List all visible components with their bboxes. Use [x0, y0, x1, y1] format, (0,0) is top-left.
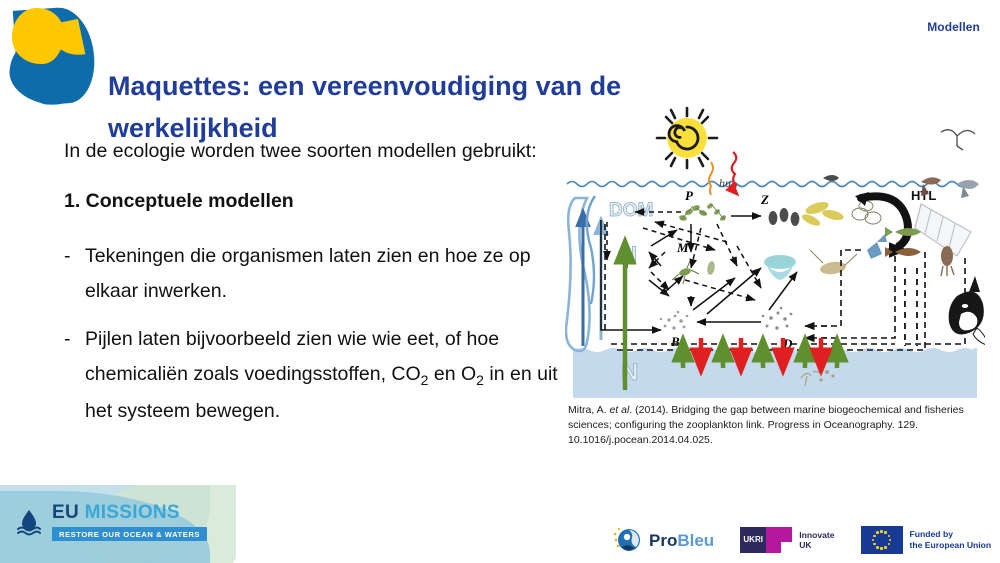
eu-funding-caption: Funded by the European Union [910, 529, 992, 550]
caption-italic: et al [609, 404, 629, 416]
innovate-uk-logo: UKRI Innovate UK [740, 527, 834, 553]
eu-missions-text: EU MISSIONS RESTORE OUR OCEAN & WATERS [52, 503, 207, 542]
list-item: - Tekeningen die organismen laten zien e… [64, 239, 562, 310]
ukri-pink-block [766, 527, 792, 553]
brand-logo [8, 2, 100, 110]
zooplankton-glyphs [764, 200, 887, 280]
intro-paragraph: In de ecologie worden twee soorten model… [64, 140, 562, 164]
orca-glyph [949, 276, 985, 346]
light-squiggle-orange [709, 162, 713, 195]
eu-flag-star [884, 546, 887, 549]
eu-funding-logo: Funded by the European Union [861, 526, 992, 554]
light-squiggle-red [732, 152, 737, 194]
slide-body-text: In de ecologie worden twee soorten model… [64, 140, 562, 441]
eu-flag-star [876, 546, 879, 549]
probleu-wordmark: ProBleu [649, 532, 714, 549]
bullet-text: Tekeningen die organismen laten zien en … [85, 239, 562, 310]
ukri-monogram: UKRI [740, 527, 766, 553]
probleu-mark-icon [612, 525, 642, 555]
eu-funding-line1: Funded by [910, 529, 992, 540]
eu-flag-star [880, 530, 883, 533]
label-dom: DOM [609, 200, 653, 221]
eu-flag-star [889, 539, 892, 542]
subscript-two: 2 [476, 372, 484, 388]
htl-arrow-head [855, 192, 869, 206]
innovate-uk-caption: Innovate UK [799, 530, 834, 551]
figure-caption: Mitra, A. et al. (2014). Bridging the ga… [568, 403, 968, 448]
label-m: M [676, 240, 689, 255]
eu-flag-star [876, 531, 879, 534]
footer-logo-row: ProBleu UKRI Innovate UK Funded by the E… [612, 525, 991, 555]
list-item: - Pijlen laten bijvoorbeeld zien wie wie… [64, 322, 562, 429]
innovate-uk-line1: Innovate [799, 530, 834, 540]
sun-icon [657, 108, 717, 168]
eu-missions-title-eu: EU [52, 502, 79, 523]
eu-flag-star [884, 531, 887, 534]
bullet-marker: - [64, 322, 74, 429]
eu-flag-star [873, 543, 876, 546]
marine-food-web-diagram: hu DOM N N P [565, 100, 985, 400]
eu-flag-star [888, 535, 891, 538]
section-heading: 1. Conceptuele modellen [64, 190, 562, 213]
sea-surface-line [567, 182, 977, 187]
photon-label: hu [719, 176, 731, 190]
eu-flag-icon [861, 526, 903, 554]
label-b: B [670, 334, 680, 349]
label-p: P [685, 188, 694, 203]
eu-flag-star [872, 539, 875, 542]
eu-missions-title-missions: MISSIONS [85, 502, 180, 523]
probleu-pro: Pro [649, 531, 677, 550]
ukri-mark: UKRI [740, 527, 792, 553]
food-web-svg: hu DOM N N P [565, 100, 985, 400]
bacteria-glyphs [660, 311, 689, 330]
phytoplankton-glyphs [678, 202, 727, 222]
eu-flag-star [888, 543, 891, 546]
caption-part1: Mitra, A. [568, 404, 609, 416]
innovate-uk-line2: UK [799, 540, 834, 550]
eu-missions-logo: EU MISSIONS RESTORE OUR OCEAN & WATERS [0, 485, 236, 563]
slide-section-tag: Modellen [927, 20, 980, 34]
probleu-bleu: Bleu [677, 531, 714, 550]
eu-flag-star [873, 535, 876, 538]
label-z: Z [760, 192, 769, 207]
eu-missions-title: EU MISSIONS [52, 503, 207, 522]
bullet-text-mid: en O [428, 363, 476, 385]
bullet-marker: - [64, 239, 74, 310]
water-drop-icon [14, 507, 44, 537]
detritus-glyphs [762, 307, 793, 330]
eu-missions-tagline: RESTORE OUR OCEAN & WATERS [52, 527, 207, 541]
probleu-logo: ProBleu [612, 525, 714, 555]
eu-flag-star [880, 547, 883, 550]
eu-funding-line2: the European Union [910, 540, 992, 551]
bullet-text: Pijlen laten bijvoorbeeld zien wie wie e… [85, 322, 562, 429]
